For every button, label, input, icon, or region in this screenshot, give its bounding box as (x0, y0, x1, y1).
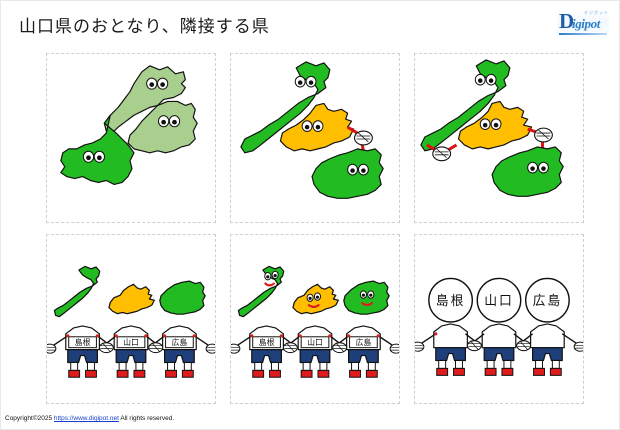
yamaguchi-sign-label: 山口 (123, 337, 139, 347)
panel-characters-map-heads-faces[interactable]: 島根 (230, 234, 400, 404)
panel-characters-circle-heads[interactable]: 島根 山口 広島 (414, 234, 584, 404)
hiroshima-right-hand-icon (390, 344, 399, 353)
yamaguchi-body (114, 326, 148, 377)
digipot-logo[interactable]: デジポット D igipot (557, 8, 609, 38)
panel-map-separated-two-hands[interactable] (414, 53, 584, 223)
shimane-map-head (54, 266, 99, 316)
character-yamaguchi[interactable]: 山口 (103, 284, 158, 377)
yamaguchi-sign-label: 山口 (307, 337, 323, 347)
handshake-icon (433, 147, 451, 161)
handshake-shimane-yamaguchi (427, 145, 457, 161)
characters-circle-svg: 島根 山口 広島 (415, 235, 583, 403)
hiroshima-name-sign: 広島 (166, 337, 194, 348)
slide-page: 山口県のおとなり、隣接する県 デジポット D igipot (0, 0, 620, 430)
hiroshima-body (347, 326, 381, 377)
shimane-left-hand-icon (415, 342, 424, 351)
panel-map-joined[interactable] (46, 53, 216, 223)
shimane-map-head (238, 266, 283, 316)
logo-kana: デジポット (584, 10, 609, 15)
hiroshima-right-hand-icon (574, 342, 583, 351)
handshake-yamaguchi-hiroshima (149, 343, 163, 353)
shimane-left-hand-icon (231, 344, 240, 353)
shimane-head-label: 島根 (436, 294, 466, 309)
page-title: 山口県のおとなり、隣接する県 (19, 15, 270, 39)
character-yamaguchi[interactable]: 山口 (287, 284, 342, 377)
map-joined-svg (47, 54, 215, 222)
handshake-yamaguchi-hiroshima (333, 343, 347, 353)
shimane-body (434, 324, 468, 375)
handshake-shimane-yamaguchi (283, 343, 297, 353)
hiroshima-right-hand-icon (206, 344, 215, 353)
footer-copyright: Copyright©2025 https://www.digipot.net A… (5, 414, 174, 423)
character-shimane[interactable]: 島根 (231, 266, 294, 377)
panel-map-separated-one-hand[interactable] (230, 53, 400, 223)
handshake-shimane-yamaguchi (467, 341, 481, 351)
yamaguchi-head-label: 山口 (484, 294, 514, 309)
handshake-shimane-yamaguchi (99, 343, 113, 353)
yamaguchi-map-head (293, 284, 338, 313)
character-shimane[interactable]: 島根 (415, 278, 478, 375)
yamaguchi-body (298, 326, 332, 377)
characters-faces-svg: 島根 (231, 235, 399, 403)
character-hiroshima[interactable]: 広島 (520, 278, 583, 375)
copyright-suffix: All rights reserved. (119, 415, 174, 422)
character-shimane[interactable]: 島根 (47, 266, 110, 377)
shimane-body (250, 326, 284, 377)
hiroshima-head-label: 広島 (533, 294, 563, 309)
yamaguchi-shape (61, 115, 134, 184)
hiroshima-shape (312, 149, 383, 198)
character-yamaguchi[interactable]: 山口 (471, 278, 526, 375)
yamaguchi-map-head (109, 284, 154, 313)
logo-underline (559, 33, 607, 35)
shimane-name-sign: 島根 (253, 337, 281, 348)
character-hiroshima[interactable]: 広島 (152, 281, 215, 377)
hiroshima-map-head (160, 281, 205, 314)
hiroshima-shape (492, 147, 563, 196)
yamaguchi-name-sign: 山口 (117, 337, 145, 348)
shimane-name-sign: 島根 (69, 337, 97, 348)
logo-wordmark: igipot (572, 17, 600, 30)
yamaguchi-body (482, 324, 516, 375)
copyright-prefix: Copyright©2025 (5, 415, 54, 422)
hiroshima-body (531, 324, 565, 375)
handshake-yamaguchi-hiroshima (348, 127, 373, 151)
panel-characters-map-heads-plain[interactable]: 島根 山口 (46, 234, 216, 404)
yamaguchi-name-sign: 山口 (301, 337, 329, 348)
footer-link[interactable]: https://www.digipot.net (54, 415, 119, 422)
hiroshima-map-head (344, 281, 389, 314)
map-separated-two-svg (415, 54, 583, 222)
hiroshima-body (163, 326, 197, 377)
shimane-left-hand-icon (47, 344, 56, 353)
handshake-icon (535, 128, 553, 142)
shimane-sign-label: 島根 (259, 337, 275, 347)
shimane-sign-label: 島根 (75, 337, 91, 347)
hiroshima-sign-label: 広島 (172, 337, 188, 347)
handshake-icon (355, 131, 373, 145)
characters-plain-svg: 島根 山口 (47, 235, 215, 403)
hiroshima-name-sign: 広島 (350, 337, 378, 348)
handshake-yamaguchi-hiroshima (517, 341, 531, 351)
character-hiroshima[interactable]: 広島 (336, 281, 399, 377)
map-separated-one-svg (231, 54, 399, 222)
shimane-body (66, 326, 100, 377)
hiroshima-sign-label: 広島 (356, 337, 372, 347)
